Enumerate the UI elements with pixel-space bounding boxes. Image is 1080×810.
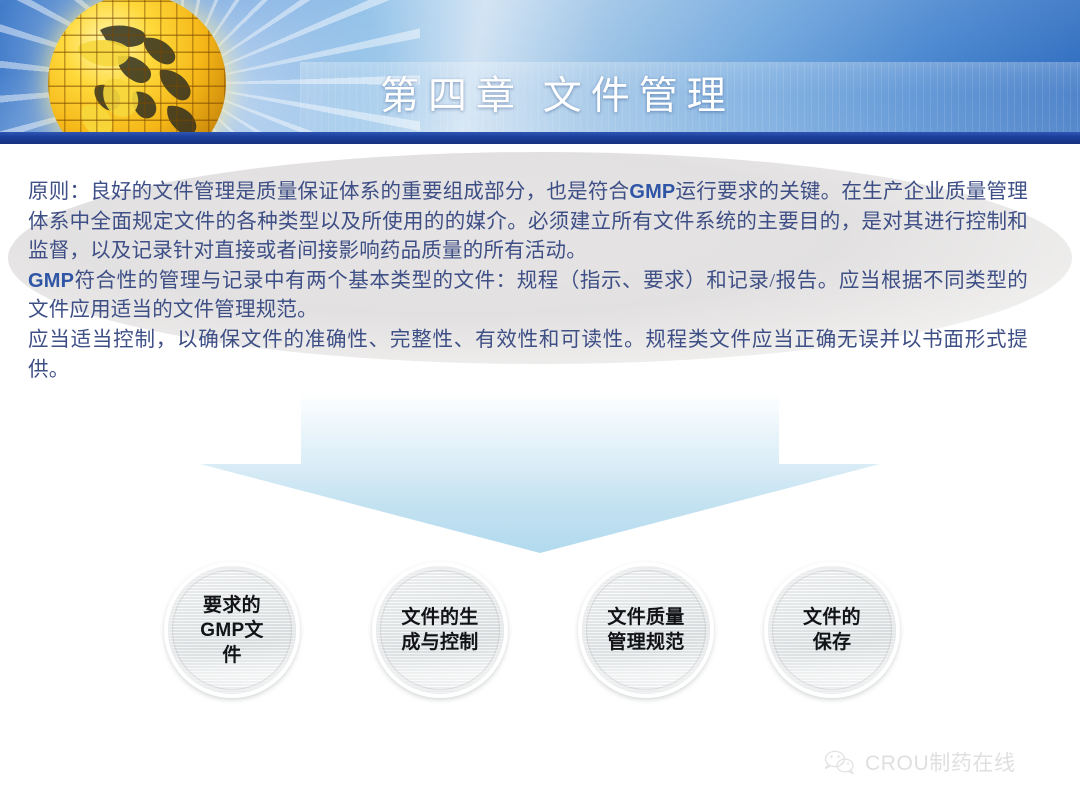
- globe-sphere: [48, 0, 226, 144]
- slide-canvas: 第四章 文件管理 原则：良好的文件管理是质量保证体系的重要组成部分，也是符合GM…: [0, 0, 1080, 810]
- down-arrow: [198, 390, 882, 556]
- slide-header: 第四章 文件管理: [0, 0, 1080, 144]
- circle-label: 要求的 GMP文 件: [180, 593, 284, 668]
- down-arrow-shape: [198, 390, 882, 556]
- globe-icon: [48, 0, 238, 144]
- circle-label-line: 管理规范: [594, 630, 698, 655]
- page-title: 第四章 文件管理: [380, 72, 1020, 122]
- circle-label-line: 保存: [780, 630, 884, 655]
- circle-label: 文件的 保存: [780, 605, 884, 655]
- circle-label-line: 件: [180, 643, 284, 668]
- circle-body: 文件质量 管理规范: [578, 562, 714, 698]
- accent-term: GMP: [28, 270, 74, 292]
- paragraph-line-3: 应当适当控制，以确保文件的准确性、完整性、有效性和可读性。规程类文件应当正确无误…: [28, 326, 1028, 385]
- principle-paragraph: 原则：良好的文件管理是质量保证体系的重要组成部分，也是符合GMP运行要求的关键。…: [28, 178, 1028, 385]
- watermark-text: CROU制药在线: [865, 747, 1016, 777]
- globe-wireframe: [48, 0, 226, 144]
- circle-label-line: 文件质量: [594, 605, 698, 630]
- circle-label: 文件质量 管理规范: [594, 605, 698, 655]
- paragraph-line-2: GMP符合性的管理与记录中有两个基本类型的文件：规程（指示、要求）和记录/报告。…: [28, 267, 1028, 326]
- wechat-icon: [822, 748, 856, 776]
- watermark: CROU制药在线: [822, 747, 1016, 777]
- circle-label-line: 文件的: [780, 605, 884, 630]
- paragraph-line-1: 原则：良好的文件管理是质量保证体系的重要组成部分，也是符合GMP运行要求的关键。…: [28, 178, 1028, 267]
- circle-body: 要求的 GMP文 件: [164, 562, 300, 698]
- circle-label-line: 文件的生: [388, 605, 492, 630]
- circle-label-line: 成与控制: [388, 630, 492, 655]
- circle-label-line: 要求的: [180, 593, 284, 618]
- circle-body: 文件的生 成与控制: [372, 562, 508, 698]
- circle-label: 文件的生 成与控制: [388, 605, 492, 655]
- accent-term: GMP: [629, 181, 675, 203]
- circle-label-line: GMP文: [180, 618, 284, 643]
- circle-body: 文件的 保存: [764, 562, 900, 698]
- header-bottom-rule: [0, 132, 1080, 144]
